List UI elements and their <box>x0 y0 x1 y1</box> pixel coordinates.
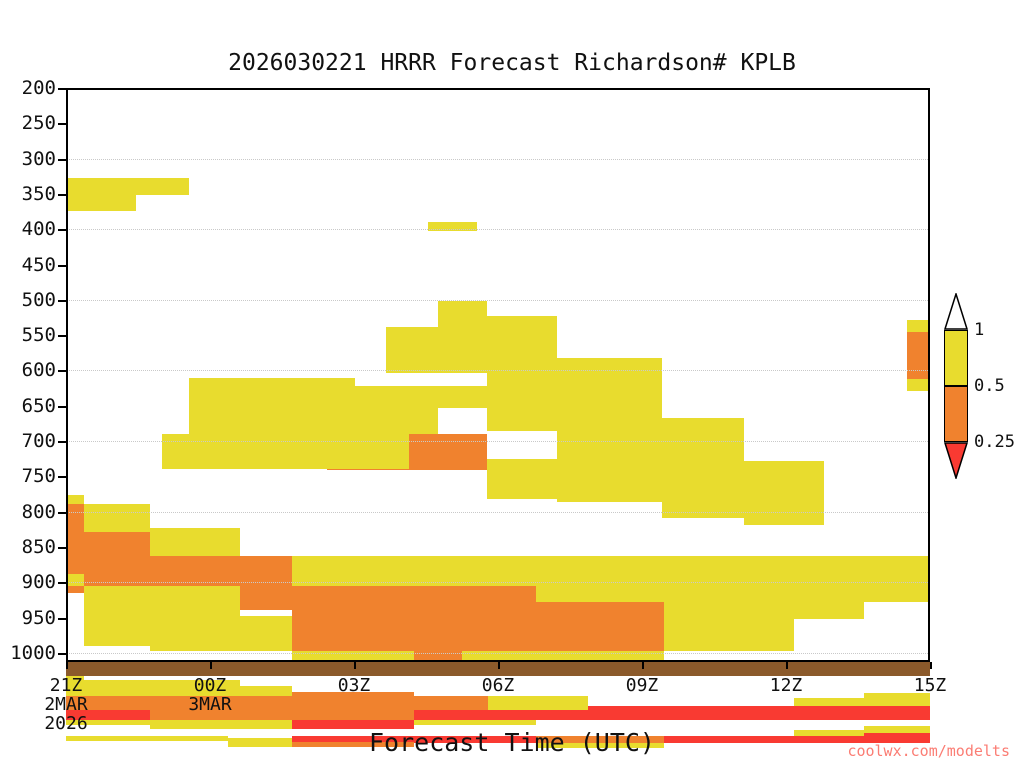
y-axis-tick-mark <box>58 265 66 267</box>
colorbar-tick-label: 0.25 <box>974 432 1015 452</box>
heatmap-cell <box>794 572 930 602</box>
heatmap-cell <box>66 195 136 211</box>
gridline-y <box>66 159 930 160</box>
plot-area <box>66 88 930 662</box>
y-axis-tick-mark <box>58 335 66 337</box>
gridline-y <box>66 582 930 583</box>
y-axis-tick-mark <box>58 547 66 549</box>
gridline-y <box>66 441 930 442</box>
heatmap-cell <box>414 586 536 634</box>
y-axis-tick-label: 1000 <box>10 642 56 664</box>
heatmap-cell <box>409 434 487 470</box>
x-axis-tick-mark <box>498 662 500 669</box>
colorbar-segment <box>944 330 968 386</box>
heatmap-cell <box>292 634 414 651</box>
y-axis-tick-label: 250 <box>22 112 56 134</box>
heatmap-cell <box>66 504 84 574</box>
heatmap-cell <box>292 586 414 634</box>
heatmap-cell <box>907 320 930 332</box>
heatmap-cell <box>536 556 664 572</box>
heatmap-cell <box>744 483 824 525</box>
heatmap-cell <box>664 634 794 651</box>
heatmap-cell <box>536 696 588 710</box>
heatmap-cell <box>240 586 292 610</box>
heatmap-cell <box>240 710 292 720</box>
y-axis-tick-label: 550 <box>22 324 56 346</box>
heatmap-cell <box>664 602 794 634</box>
heatmap-cell <box>84 586 150 646</box>
x-axis-tick-mark <box>930 662 932 669</box>
y-axis-tick-label: 400 <box>22 218 56 240</box>
heatmap-cell <box>84 504 150 532</box>
heatmap-cell <box>438 386 487 408</box>
gridline-y <box>66 653 930 654</box>
heatmap-cell <box>487 459 562 499</box>
y-axis-tick-label: 750 <box>22 465 56 487</box>
heatmap-cell <box>557 409 662 502</box>
y-axis-tick-label: 650 <box>22 395 56 417</box>
heatmap-cell <box>84 532 150 586</box>
heatmap-cell <box>150 586 240 616</box>
heatmap-cell <box>744 461 824 483</box>
heatmap-cell <box>662 418 744 458</box>
chart-canvas: 2026030221 HRRR Forecast Richardson# KPL… <box>0 0 1024 768</box>
y-axis-tick-label: 350 <box>22 183 56 205</box>
heatmap-cell <box>327 434 409 469</box>
heatmap-cell <box>66 586 84 593</box>
heatmap-cell <box>189 378 355 434</box>
heatmap-cell <box>662 458 744 518</box>
heatmap-cell <box>84 710 150 720</box>
y-axis-tick-mark <box>58 370 66 372</box>
heatmap-cell <box>664 556 794 602</box>
y-axis-tick-mark <box>58 159 66 161</box>
heatmap-cell <box>488 696 536 710</box>
y-axis-tick-label: 300 <box>22 148 56 170</box>
y-axis-tick-mark <box>58 194 66 196</box>
y-axis-tick-mark <box>58 618 66 620</box>
colorbar-segment <box>944 386 968 442</box>
heatmap-cell <box>536 572 664 602</box>
x-axis-tick-label: 15Z <box>914 676 947 695</box>
y-axis-tick-mark <box>58 441 66 443</box>
heatmap-cell <box>150 616 292 651</box>
y-axis-tick-mark <box>58 512 66 514</box>
colorbar[interactable]: 10.50.25 <box>944 293 970 479</box>
x-axis-tick-mark <box>210 662 212 669</box>
heatmap-cell <box>794 602 864 619</box>
x-axis-tick-label: 00Z 3MAR <box>188 676 231 714</box>
heatmap-cell <box>162 434 327 469</box>
y-axis-tick-label: 900 <box>22 571 56 593</box>
heatmap-cell <box>194 528 240 556</box>
y-axis-tick-label: 200 <box>22 77 56 99</box>
heatmap-cell <box>907 379 930 391</box>
x-axis-tick-label: 09Z <box>626 676 659 695</box>
gridline-y <box>66 512 930 513</box>
gridline-y <box>66 229 930 230</box>
heatmap-cell <box>438 301 487 327</box>
heatmap-cell <box>487 316 557 373</box>
y-axis-tick-mark <box>58 300 66 302</box>
heatmap-cell <box>438 408 487 434</box>
heatmap-cell <box>84 680 150 696</box>
colorbar-tick-label: 1 <box>974 320 984 340</box>
heatmap-cell <box>794 698 864 706</box>
x-axis-tick-label: 03Z <box>338 676 371 695</box>
x-axis-tick-mark <box>786 662 788 669</box>
x-axis-tick-mark <box>354 662 356 669</box>
chart-title: 2026030221 HRRR Forecast Richardson# KPL… <box>0 50 1024 76</box>
colorbar-cap-top <box>944 293 968 330</box>
heatmap-cell <box>414 710 930 720</box>
gridline-y <box>66 370 930 371</box>
y-axis-tick-label: 500 <box>22 289 56 311</box>
heatmap-cell <box>462 634 536 651</box>
x-axis-tick-mark <box>66 662 68 669</box>
heatmap-cell <box>487 373 577 409</box>
x-axis-tick-label: 06Z <box>482 676 515 695</box>
heatmap-cell <box>414 696 488 710</box>
y-axis-tick-label: 950 <box>22 607 56 629</box>
y-axis-tick-mark <box>58 582 66 584</box>
y-axis-tick-label: 600 <box>22 359 56 381</box>
footer-credit: coolwx.com/modelts <box>847 742 1010 760</box>
heatmap-cell <box>66 696 292 710</box>
heatmap-cell <box>355 386 438 434</box>
heatmap-cell <box>66 178 189 195</box>
y-axis-tick-mark <box>58 406 66 408</box>
gridline-y <box>66 300 930 301</box>
heatmap-cell <box>487 431 557 459</box>
y-axis-tick-mark <box>58 653 66 655</box>
heatmap-cell <box>386 327 487 373</box>
heatmap-cell <box>240 686 292 696</box>
heatmap-cell <box>292 710 414 720</box>
y-axis-tick-mark <box>58 229 66 231</box>
y-axis-tick-label: 450 <box>22 254 56 276</box>
heatmap-cell <box>150 528 194 556</box>
heatmap-cell <box>66 574 84 586</box>
heatmap-cell <box>536 602 664 634</box>
x-axis-tick-mark <box>642 662 644 669</box>
y-axis-tick-label: 800 <box>22 501 56 523</box>
y-axis-tick-label: 700 <box>22 430 56 452</box>
x-axis-tick-label: 12Z <box>770 676 803 695</box>
colorbar-cap-bottom <box>944 442 968 479</box>
x-axis-tick-label: 21Z 2MAR 2026 <box>44 676 87 733</box>
heatmap-cell <box>414 720 536 725</box>
y-axis-tick-mark <box>58 88 66 90</box>
y-axis-tick-label: 850 <box>22 536 56 558</box>
y-axis-tick-mark <box>58 476 66 478</box>
y-axis-tick-mark <box>58 123 66 125</box>
heatmap-cell <box>536 634 664 651</box>
heatmap-cell <box>487 409 557 431</box>
colorbar-tick-label: 0.5 <box>974 376 1005 396</box>
heatmap-cell <box>66 495 84 504</box>
heatmap-cell <box>794 556 930 572</box>
heatmap-cell <box>907 332 930 379</box>
